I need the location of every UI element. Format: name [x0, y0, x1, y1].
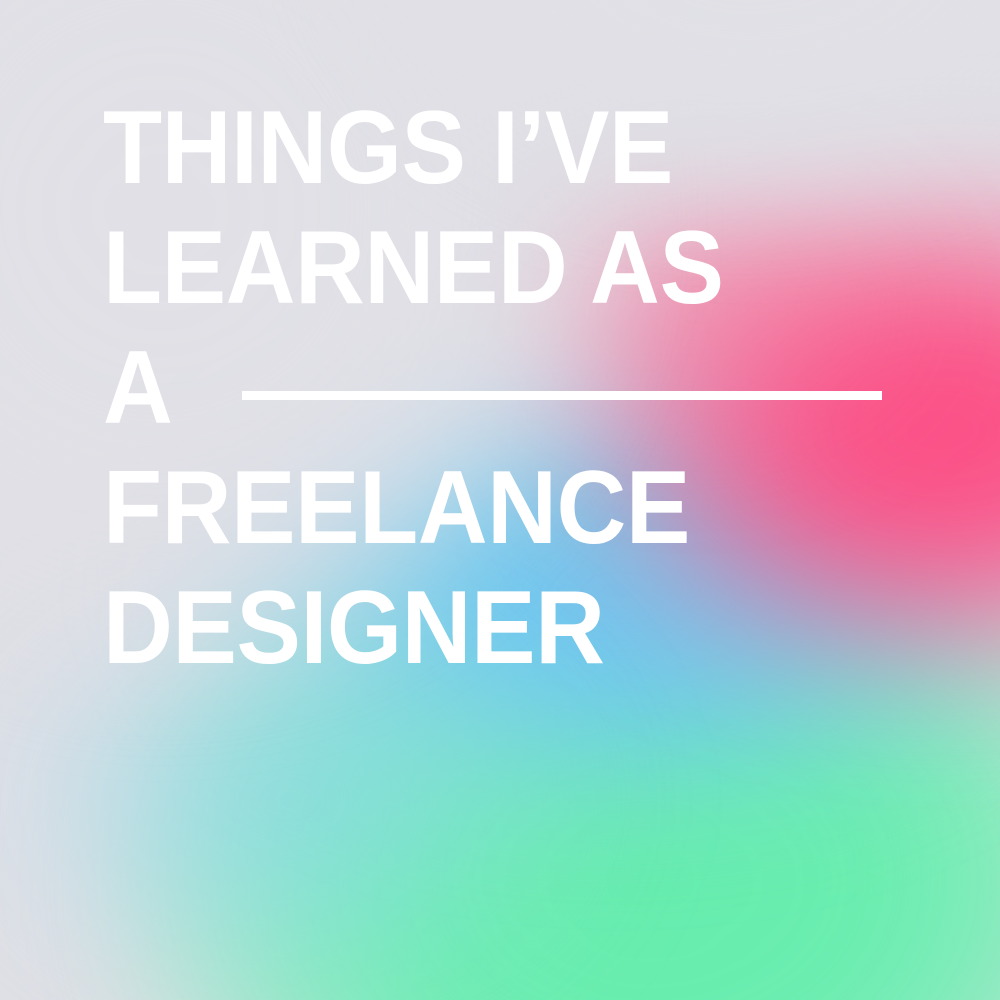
headline-line-3-row: A — [103, 328, 933, 448]
headline-block: THINGS I’VE LEARNED AS A FREELANCE DESIG… — [103, 88, 933, 688]
headline-line-3: A — [103, 336, 172, 440]
poster-canvas: THINGS I’VE LEARNED AS A FREELANCE DESIG… — [0, 0, 1000, 1000]
headline-line-5: DESIGNER — [103, 568, 875, 688]
horizontal-rule — [242, 391, 882, 400]
headline-line-2: LEARNED AS — [103, 208, 875, 328]
headline-line-1: THINGS I’VE — [103, 88, 875, 208]
headline-line-4: FREELANCE — [103, 448, 875, 568]
